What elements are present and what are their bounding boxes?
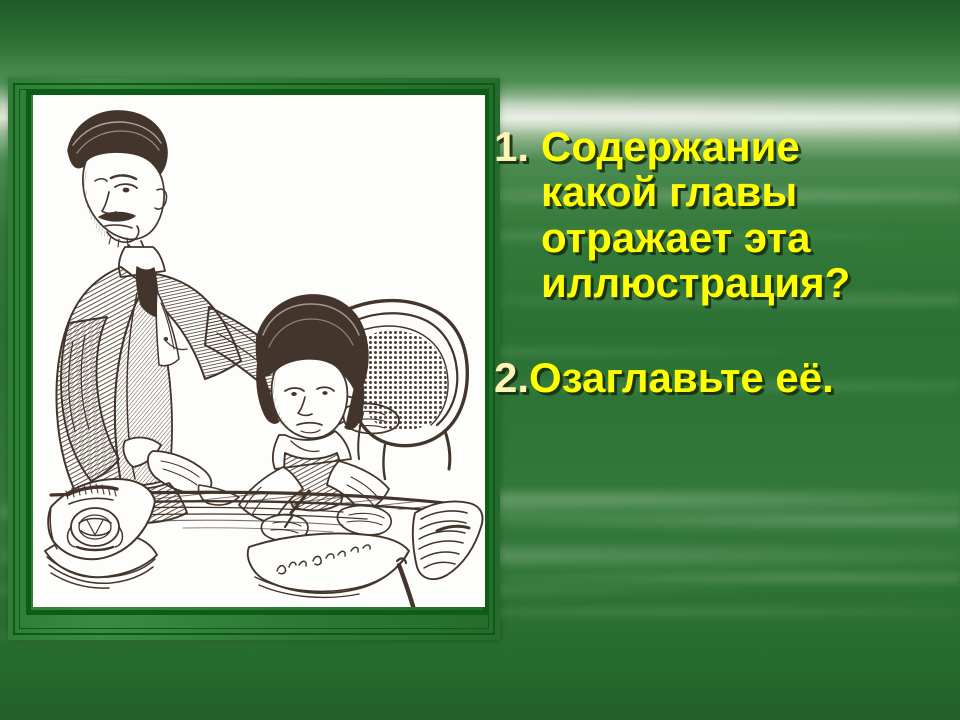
- illustration-frame: [8, 78, 500, 640]
- question-list: 1. Содержание какой главы отражает эта и…: [494, 124, 944, 401]
- illustration-image: [33, 95, 485, 607]
- question-2-number: 2.: [494, 355, 529, 400]
- question-1-number: 1.: [494, 124, 529, 169]
- question-item-1: 1. Содержание какой главы отражает эта и…: [494, 124, 944, 305]
- question-item-2: 2. Озаглавьте её.: [494, 355, 944, 400]
- question-1-text: Содержание какой главы отражает эта иллю…: [541, 124, 913, 305]
- question-2-text: Озаглавьте её.: [529, 355, 834, 400]
- slide-canvas: 1. Содержание какой главы отражает эта и…: [0, 0, 960, 720]
